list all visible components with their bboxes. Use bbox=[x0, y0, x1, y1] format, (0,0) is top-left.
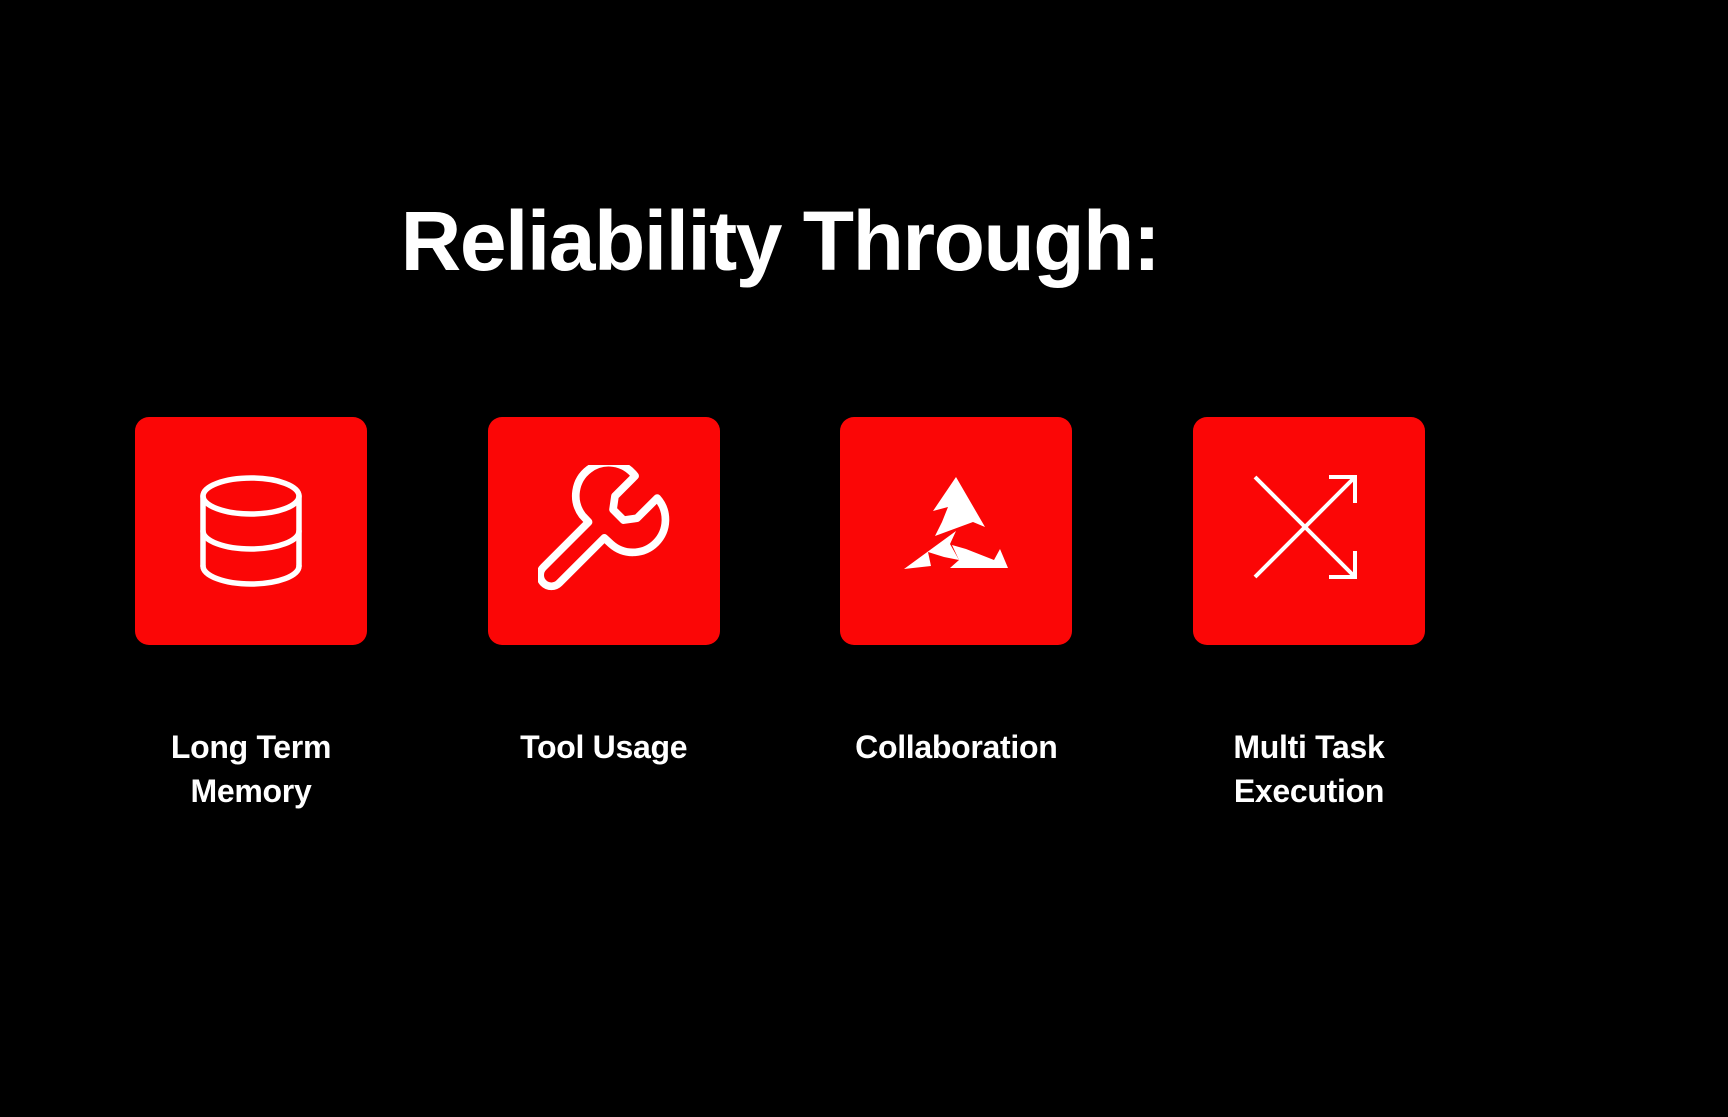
database-icon bbox=[185, 465, 317, 597]
crossing-arrows-icon bbox=[1243, 465, 1375, 597]
feature-card-tool-usage[interactable]: Tool Usage bbox=[488, 417, 720, 769]
icon-tile-multi-task-execution[interactable] bbox=[1193, 417, 1425, 645]
icon-tile-tool-usage[interactable] bbox=[488, 417, 720, 645]
feature-card-label: Multi Task Execution bbox=[1233, 725, 1384, 813]
slide-root: Reliability Through: Long Term Memory bbox=[0, 0, 1728, 1117]
feature-card-collaboration[interactable]: Collaboration bbox=[840, 417, 1072, 769]
collaboration-cycle-icon bbox=[890, 465, 1022, 597]
feature-card-label: Long Term Memory bbox=[171, 725, 331, 813]
icon-tile-long-term-memory[interactable] bbox=[135, 417, 367, 645]
wrench-icon bbox=[538, 465, 670, 597]
feature-card-long-term-memory[interactable]: Long Term Memory bbox=[135, 417, 367, 813]
feature-card-multi-task-execution[interactable]: Multi Task Execution bbox=[1193, 417, 1425, 813]
feature-card-label: Collaboration bbox=[855, 725, 1057, 769]
feature-card-label: Tool Usage bbox=[520, 725, 687, 769]
icon-tile-collaboration[interactable] bbox=[840, 417, 1072, 645]
page-title: Reliability Through: bbox=[0, 196, 1560, 287]
feature-card-row: Long Term Memory Tool Usage bbox=[135, 417, 1425, 813]
